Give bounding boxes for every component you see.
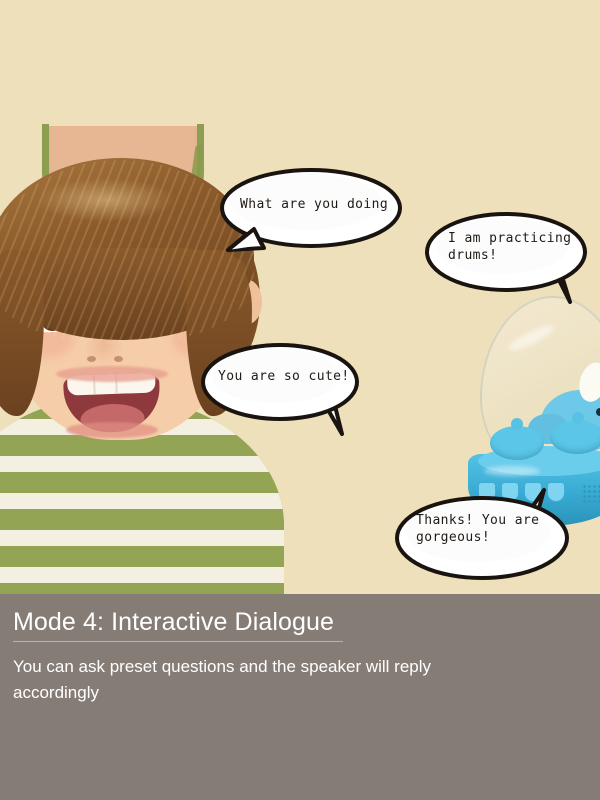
hair-highlight bbox=[36, 178, 176, 222]
caption-divider bbox=[13, 641, 343, 642]
drum-knob-left bbox=[511, 418, 523, 430]
speech-bubble-3-text: You are so cute! bbox=[218, 368, 352, 385]
photo-stage: What are you doing I am practicing drums… bbox=[0, 0, 600, 594]
caption-title: Mode 4: Interactive Dialogue bbox=[13, 608, 334, 637]
speaker-grille bbox=[582, 484, 600, 502]
lower-lip bbox=[66, 422, 158, 438]
speech-bubble-1: What are you doing bbox=[218, 166, 404, 262]
nostril-left bbox=[87, 356, 96, 362]
base-highlight bbox=[484, 466, 540, 476]
caption-body: You can ask preset questions and the spe… bbox=[13, 654, 433, 706]
upper-lip bbox=[56, 366, 168, 382]
speech-bubble-4: Thanks! You are gorgeous! bbox=[394, 488, 576, 588]
speech-bubble-3: You are so cute! bbox=[200, 338, 366, 438]
nostril-right bbox=[114, 356, 123, 362]
drum-pad-large-right bbox=[550, 420, 600, 454]
speech-bubble-1-text: What are you doing bbox=[240, 196, 390, 213]
drum-pad-large-left bbox=[490, 426, 544, 460]
caption-bar: Mode 4: Interactive Dialogue You can ask… bbox=[0, 594, 600, 800]
product-feature-slide: What are you doing I am practicing drums… bbox=[0, 0, 600, 800]
speech-bubble-2-text: I am practicing drums! bbox=[448, 230, 574, 264]
speech-bubble-4-text: Thanks! You are gorgeous! bbox=[416, 512, 560, 546]
animal-eye bbox=[596, 408, 600, 416]
speech-bubble-2: I am practicing drums! bbox=[424, 208, 590, 308]
drum-knob-right bbox=[572, 412, 584, 424]
